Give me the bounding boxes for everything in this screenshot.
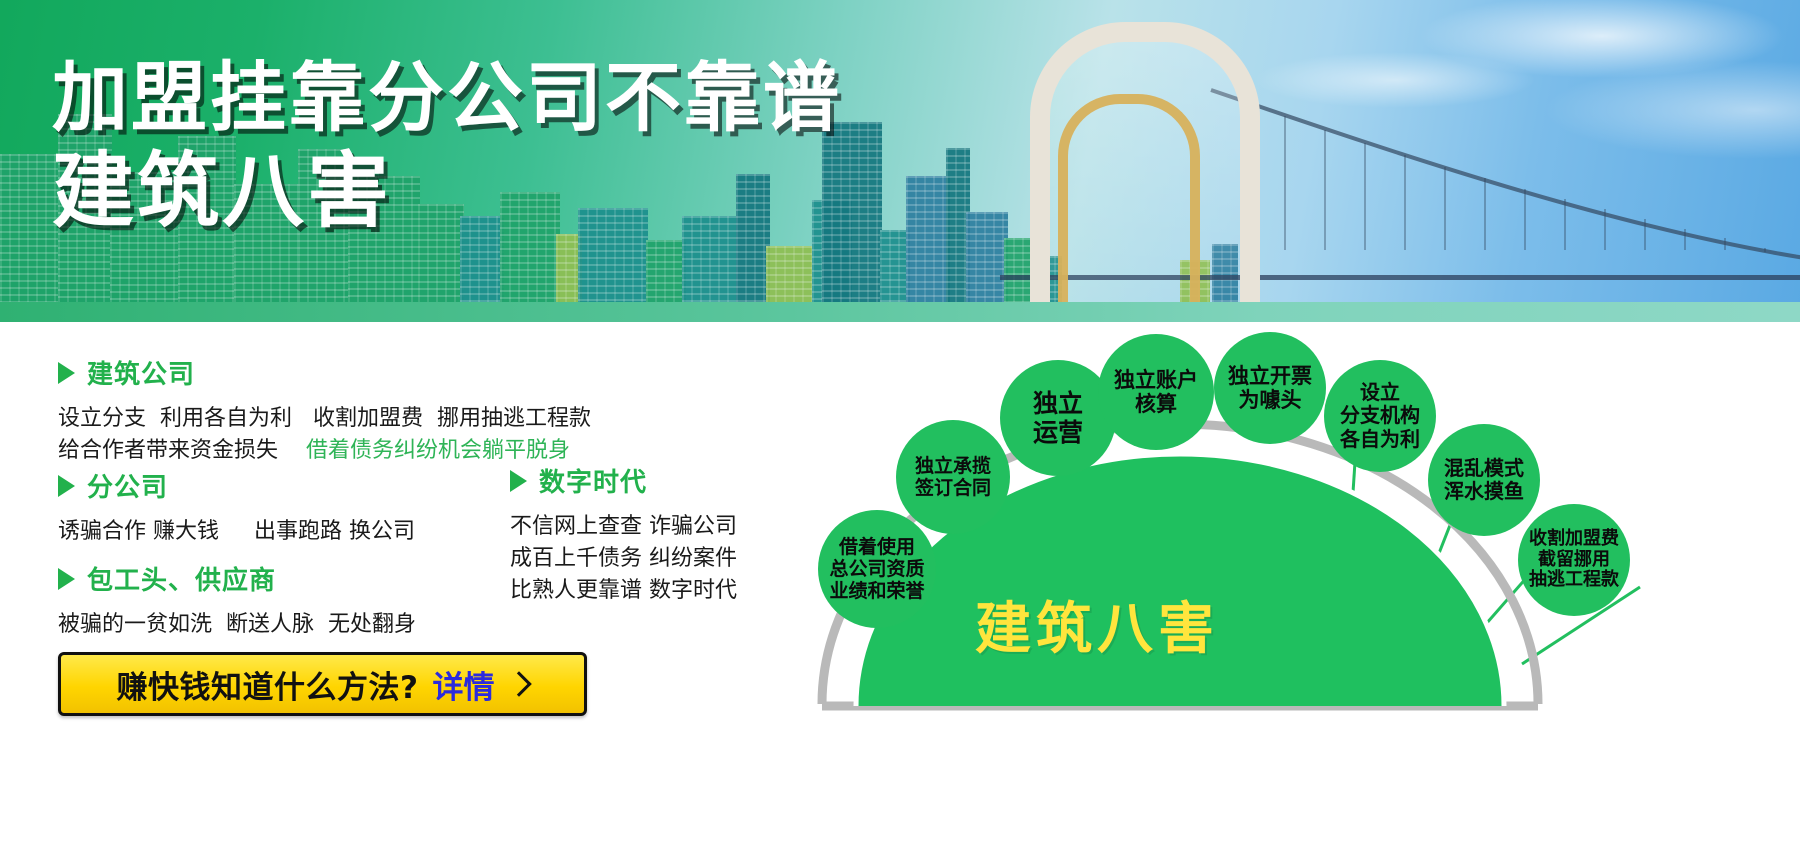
- bubble-b1[interactable]: 借着使用 总公司资质 业绩和荣誉: [818, 510, 936, 628]
- banner-title-line2: 建筑八害: [52, 149, 842, 236]
- triangle-bullet-icon: [58, 568, 75, 590]
- bubble-b5-text: 独立开票 为噱头: [1228, 364, 1312, 413]
- bubble-b8-text: 收割加盟费 截留挪用 抽逃工程款: [1529, 529, 1619, 592]
- section-title: 建筑公司: [87, 354, 195, 391]
- bubble-b7[interactable]: 混乱模式 浑水摸鱼: [1428, 424, 1540, 536]
- header-banner: 加盟挂靠分公司不靠谱 建筑八害: [0, 0, 1800, 322]
- section-line-3: 比熟人更靠谱 数字时代: [510, 575, 737, 607]
- section-line-2-plain: 给合作者带来资金损失: [58, 438, 306, 463]
- cta-detail-link[interactable]: 详情: [432, 662, 494, 707]
- section-line-1: 设立分支 利用各自为利 收割加盟费 挪用抽逃工程款: [58, 403, 591, 435]
- section-title: 包工头、供应商: [87, 560, 276, 597]
- section-line-2-accent: 借着债务纠纷机会躺平脱身: [306, 438, 570, 463]
- banner-bottom-strip: [0, 302, 1800, 322]
- section-construction-company: 建筑公司 设立分支 利用各自为利 收割加盟费 挪用抽逃工程款 给合作者带来资金损…: [58, 354, 591, 467]
- banner-title-line1: 加盟挂靠分公司不靠谱: [52, 58, 842, 139]
- section-line-1: 被骗的一贫如洗 断送人脉 无处翻身: [58, 609, 416, 641]
- bubble-b4-text: 独立账户 核算: [1114, 368, 1198, 417]
- bubble-b7-text: 混乱模式 浑水摸鱼: [1444, 457, 1524, 503]
- section-title: 数字时代: [539, 462, 647, 499]
- bubble-b3-text: 独立 运营: [1033, 389, 1083, 447]
- triangle-bullet-icon: [58, 362, 75, 384]
- section-line-1: 诱骗合作 赚大钱 出事跑路 换公司: [58, 516, 415, 548]
- bubble-b6[interactable]: 设立 分支机构 各自为利: [1324, 360, 1436, 472]
- triangle-bullet-icon: [58, 475, 75, 497]
- section-line-1: 不信网上查查 诈骗公司: [510, 511, 737, 543]
- poster-root: 加盟挂靠分公司不靠谱 建筑八害 建筑公司 设立分支 利用各自为利 收割加盟费 挪…: [0, 0, 1800, 844]
- bubble-b4[interactable]: 独立账户 核算: [1098, 334, 1214, 450]
- section-contractor-supplier: 包工头、供应商 被骗的一贫如洗 断送人脉 无处翻身: [58, 560, 416, 641]
- section-title: 分公司: [87, 467, 168, 504]
- eight-harms-diagram: 建筑八害 借着使用 总公司资质 业绩和荣誉 独立承揽 签订合同 独立 运营 独立…: [800, 322, 1800, 844]
- bubble-b3[interactable]: 独立 运营: [1000, 360, 1116, 476]
- triangle-bullet-icon: [510, 470, 527, 492]
- section-line-2: 成百上千债务 纠纷案件: [510, 543, 737, 575]
- bubble-b2[interactable]: 独立承揽 签订合同: [896, 420, 1010, 534]
- bubble-b8[interactable]: 收割加盟费 截留挪用 抽逃工程款: [1518, 504, 1630, 616]
- bridge-illustration: [1000, 24, 1800, 304]
- bubble-b5[interactable]: 独立开票 为噱头: [1214, 332, 1326, 444]
- bubble-b6-text: 设立 分支机构 各自为利: [1340, 381, 1420, 451]
- bubble-b2-text: 独立承揽 签订合同: [915, 455, 991, 499]
- bubble-b1-text: 借着使用 总公司资质 业绩和荣誉: [829, 536, 924, 602]
- cta-main-label: 赚快钱知道什么方法?: [117, 662, 419, 707]
- section-digital-era: 数字时代 不信网上查查 诈骗公司 成百上千债务 纠纷案件 比熟人更靠谱 数字时代: [510, 462, 737, 607]
- dome-label: 建筑八害: [975, 584, 1219, 665]
- left-content: 建筑公司 设立分支 利用各自为利 收割加盟费 挪用抽逃工程款 给合作者带来资金损…: [0, 322, 820, 844]
- chevron-right-icon: [507, 671, 532, 696]
- banner-title: 加盟挂靠分公司不靠谱 建筑八害: [52, 58, 842, 235]
- section-branch-company: 分公司 诱骗合作 赚大钱 出事跑路 换公司: [58, 467, 415, 548]
- cta-button[interactable]: 赚快钱知道什么方法? 详情: [58, 652, 587, 716]
